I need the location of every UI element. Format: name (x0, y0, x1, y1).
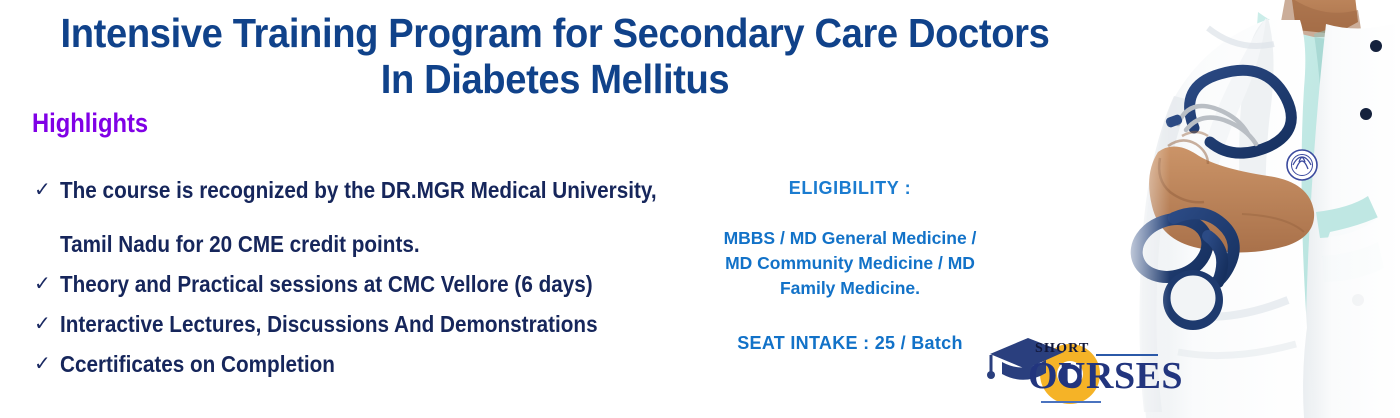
check-icon: ✓ (34, 267, 60, 301)
highlights-list: ✓ The course is recognized by the DR.MGR… (34, 173, 694, 387)
list-item: ✓ Interactive Lectures, Discussions And … (34, 307, 694, 341)
short-courses-logo[interactable]: SHORT OURSES (978, 330, 1193, 418)
eligibility-qualifications: MBBS / MD General Medicine / MD Communit… (690, 226, 1010, 301)
logo-courses-text: OURSES (1028, 354, 1183, 398)
logo-word-rule (1041, 401, 1101, 403)
list-item-label: Theory and Practical sessions at CMC Vel… (60, 267, 631, 301)
highlights-heading: Highlights (32, 108, 148, 138)
check-icon: ✓ (34, 347, 60, 381)
eligibility-line-1: MBBS / MD General Medicine / (690, 226, 1010, 251)
list-item-body: Interactive Lectures, Discussions And De… (60, 307, 694, 341)
banner-title: Intensive Training Program for Secondary… (0, 10, 1110, 102)
list-item-body: Ccertificates on Completion (60, 347, 694, 381)
list-item-label: Interactive Lectures, Discussions And De… (60, 307, 631, 341)
list-item: ✓ The course is recognized by the DR.MGR… (34, 173, 694, 261)
list-item: ✓ Ccertificates on Completion (34, 347, 694, 381)
list-item-label: The course is recognized by the DR.MGR M… (60, 173, 657, 207)
title-line-1: Intensive Training Program for Secondary… (39, 10, 1071, 56)
eligibility-line-3: Family Medicine. (690, 276, 1010, 301)
eligibility-heading: ELIGIBILITY : (690, 176, 1010, 200)
course-banner: Intensive Training Program for Secondary… (0, 0, 1400, 418)
title-line-2: In Diabetes Mellitus (39, 56, 1071, 102)
eligibility-line-2: MD Community Medicine / MD (690, 251, 1010, 276)
list-item-label-cont: Tamil Nadu for 20 CME credit points. (60, 227, 657, 261)
check-icon: ✓ (34, 173, 60, 207)
list-item-label: Ccertificates on Completion (60, 347, 631, 381)
seat-intake-text: SEAT INTAKE : 25 / Batch (690, 331, 1010, 355)
check-icon: ✓ (34, 307, 60, 341)
list-item-body: Theory and Practical sessions at CMC Vel… (60, 267, 694, 301)
list-item: ✓ Theory and Practical sessions at CMC V… (34, 267, 694, 301)
list-item-body: The course is recognized by the DR.MGR M… (60, 173, 723, 261)
eligibility-block: ELIGIBILITY : MBBS / MD General Medicine… (690, 176, 1010, 355)
